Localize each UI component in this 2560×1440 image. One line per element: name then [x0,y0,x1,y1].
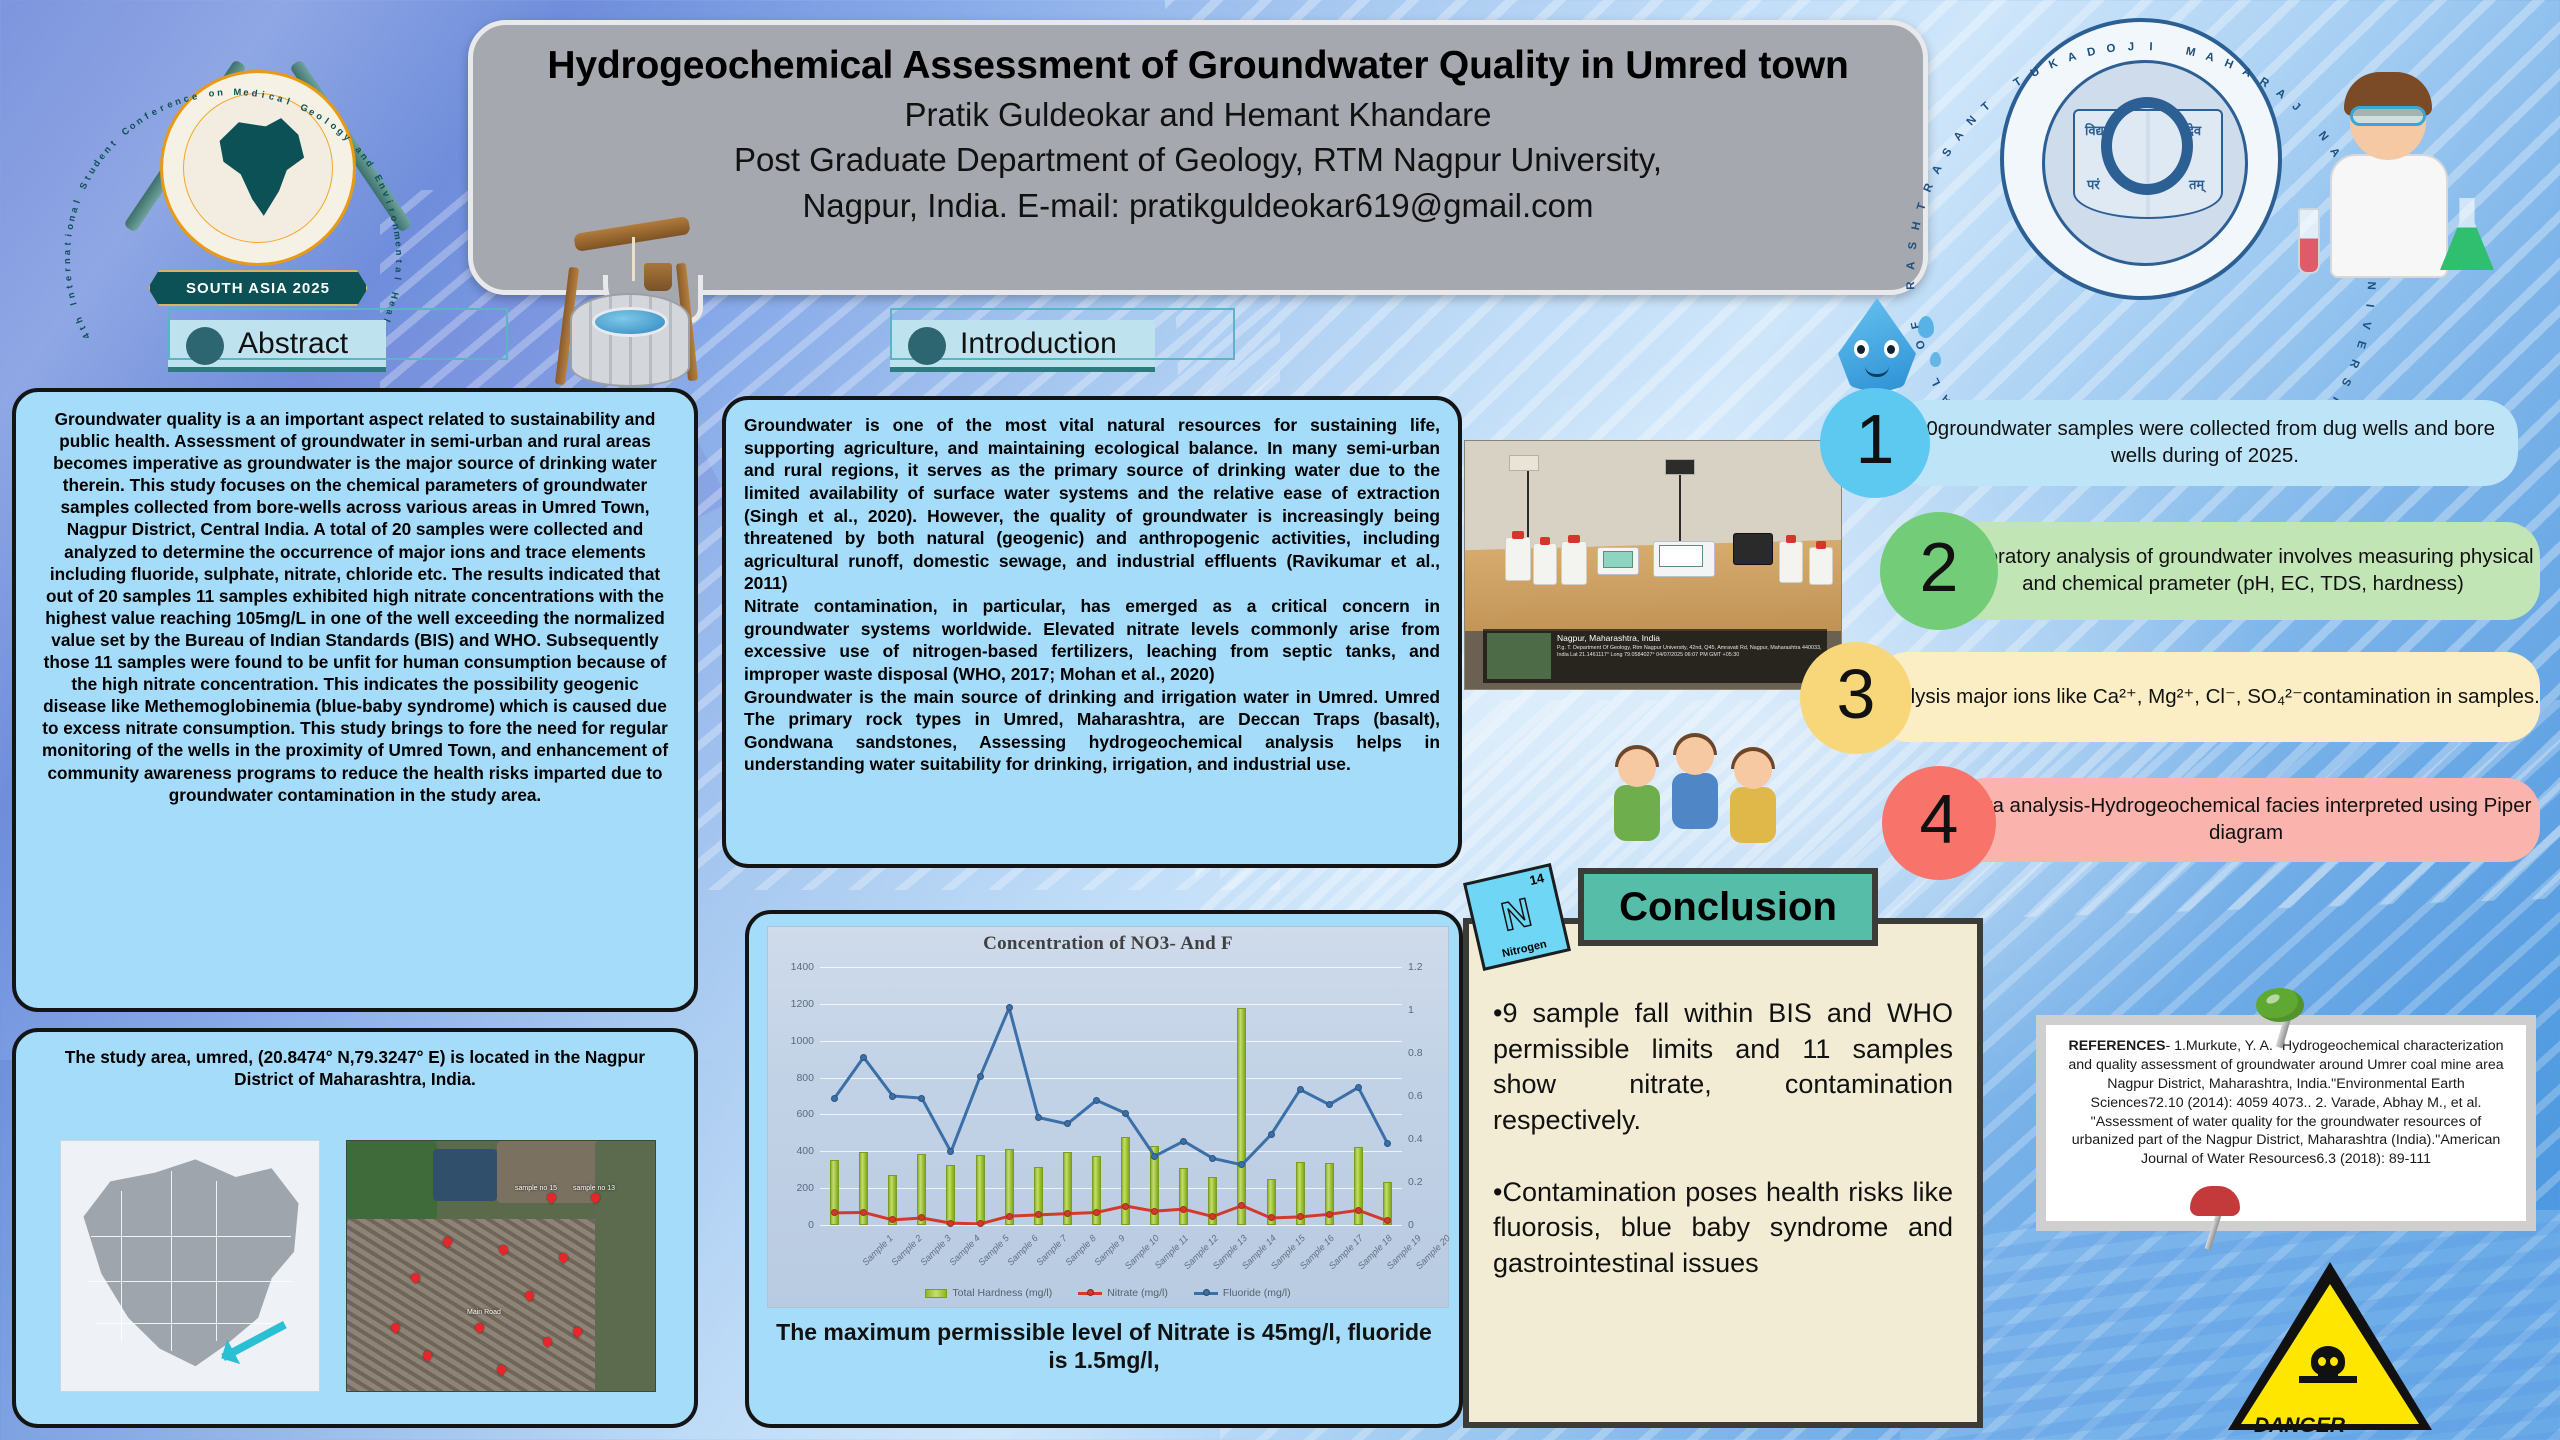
maharashtra-district-map [60,1140,320,1392]
chart-y2-tick: 0.2 [1408,1176,1423,1188]
study-area-panel: The study area, umred, (20.8474° N,79.32… [12,1028,698,1428]
page-title: Hydrogeochemical Assessment of Groundwat… [473,25,1923,90]
chart-data-point [1006,1213,1013,1220]
method-step-1-text: 20groundwater samples were collected fro… [1892,400,2518,486]
chart-data-point [1151,1208,1158,1215]
seal-arc-text: SEAL OF RASHTRASANT TUKADOJI MAHARAJ NAG… [2004,22,2278,296]
chart-data-point [1151,1153,1158,1160]
water-droplet-icon [1930,352,1941,367]
chart-x-tick: Sample 5 [976,1233,1011,1268]
university-seal: विद्या देव परं तम् SEAL OF RASHTRASANT T… [2000,18,2282,300]
introduction-panel: Groundwater is one of the most vital nat… [722,396,1462,868]
chart-data-point [1180,1206,1187,1213]
chart-y-tick: 600 [796,1108,814,1120]
conclusion-section-heading: Conclusion [1578,868,1878,946]
chart-data-point [1064,1210,1071,1217]
heading-bullet-icon [186,327,224,365]
method-step-2: Laboratory analysis of groundwater invol… [1880,512,2540,630]
satellite-sample-map: sample no 15 sample no 13 Main Road [346,1140,656,1392]
chart-x-tick: Sample 9 [1093,1233,1128,1268]
legend-swatch-icon [1078,1292,1102,1295]
method-step-3-number: 3 [1800,642,1912,754]
legend-label: Total Hardness (mg/l) [952,1287,1052,1299]
method-step-4-number: 4 [1882,766,1996,880]
method-step-2-text: Laboratory analysis of groundwater invol… [1946,522,2540,620]
chart-data-point [1355,1084,1362,1091]
chart-data-point [889,1093,896,1100]
chart-data-point [1122,1110,1129,1117]
introduction-text: Groundwater is one of the most vital nat… [726,400,1458,790]
chart-plot-area: 020040060080010001200140000.20.40.60.811… [820,967,1402,1225]
affiliation: Post Graduate Department of Geology, RTM… [473,135,1923,180]
method-step-4-text: Data analysis-Hydrogeochemical facies in… [1952,778,2540,862]
chart-data-point [1093,1097,1100,1104]
chart-data-point [1384,1140,1391,1147]
method-step-3-text: Analysis major ions like Ca²⁺, Mg²⁺, Cl⁻… [1874,652,2540,742]
chart-data-point [1326,1101,1333,1108]
chart-data-point [860,1054,867,1061]
chart-y2-tick: 0.6 [1408,1090,1423,1102]
chart-y2-tick: 0.4 [1408,1133,1423,1145]
chart-data-point [977,1220,984,1227]
chart-data-point [1006,1004,1013,1011]
chart-title: Concentration of NO3- And F [768,927,1448,955]
chart-y2-tick: 0.8 [1408,1047,1423,1059]
chart-data-point [977,1073,984,1080]
chart-x-tick: Sample 4 [947,1233,982,1268]
chart-data-point [1355,1207,1362,1214]
chart-data-point [918,1095,925,1102]
photo-gps-title: Nagpur, Maharashtra, India [1557,633,1660,643]
conference-logo-ribbon: SOUTH ASIA 2025 [148,270,368,306]
introduction-paragraph-2: Nitrate contamination, in particular, ha… [744,595,1440,686]
legend-swatch-icon [1194,1292,1218,1295]
method-step-3: Analysis major ions like Ca²⁺, Mg²⁺, Cl⁻… [1800,642,2540,752]
abstract-section-heading: Abstract [168,318,508,374]
chart-y2-tick: 1.2 [1408,961,1423,973]
legend-label: Fluoride (mg/l) [1223,1287,1291,1299]
heading-bullet-icon [908,327,946,365]
chart-data-point [1093,1209,1100,1216]
chart-data-point [1122,1203,1129,1210]
sat-label: Main Road [467,1309,501,1316]
scientist-illustration [2290,58,2520,318]
chart-y2-tick: 1 [1408,1004,1414,1016]
chart-y-tick: 400 [796,1145,814,1157]
chart-gridline [820,1225,1402,1226]
skull-crossbones-icon [2302,1346,2354,1388]
chart-x-tick: Sample 7 [1035,1233,1070,1268]
chart-y-tick: 0 [808,1219,814,1231]
author-list: Pratik Guldeokar and Hemant Khandare [473,90,1923,135]
danger-label: DANGER [2254,1414,2345,1438]
introduction-paragraph-1: Groundwater is one of the most vital nat… [744,414,1440,595]
method-step-1-number: 1 [1820,388,1930,498]
study-area-caption: The study area, umred, (20.8474° N,79.32… [16,1032,694,1097]
chart-y-tick: 1400 [791,961,814,973]
conclusion-text: •9 sample fall within BIS and WHO permis… [1469,924,1977,1281]
chart-y-tick: 800 [796,1072,814,1084]
abstract-text: Groundwater quality is a an important as… [16,392,694,822]
chart-lines [820,967,1402,1225]
references-body: - 1.Murkute, Y. A. "Hydrogeochemical cha… [2068,1038,2503,1167]
chart-x-tick: Sample 2 [889,1233,924,1268]
water-well-illustration [540,215,720,390]
legend-label: Nitrate (mg/l) [1107,1287,1168,1299]
sat-label: sample no 15 [515,1185,557,1192]
study-area-maps: sample no 15 sample no 13 Main Road [16,1132,694,1412]
method-step-2-number: 2 [1880,512,1998,630]
chart-legend-item: Nitrate (mg/l) [1078,1287,1168,1299]
green-pushpin-icon [2252,988,2314,1050]
chart-legend: Total Hardness (mg/l)Nitrate (mg/l)Fluor… [768,1287,1448,1299]
conclusion-bullet-2: •Contamination poses health risks like f… [1493,1175,1953,1282]
conclusion-bullet-1: •9 sample fall within BIS and WHO permis… [1493,996,1953,1139]
chart-x-tick: Sample 3 [918,1233,953,1268]
chart-y-tick: 200 [796,1182,814,1194]
chart-legend-item: Fluoride (mg/l) [1194,1287,1291,1299]
chart-data-point [1035,1114,1042,1121]
chart-caption: The maximum permissible level of Nitrate… [749,1318,1459,1374]
red-pushpin-icon [2186,1186,2244,1250]
method-step-1: 20groundwater samples were collected fro… [1820,388,2520,498]
references-label: REFERENCES [2068,1038,2165,1054]
introduction-paragraph-3: Groundwater is the main source of drinki… [744,686,1440,777]
chart-y-tick: 1000 [791,1035,814,1047]
chart-x-tick: Sample 1 [860,1233,895,1268]
conference-logo: 4th International Student Conference on … [108,32,358,312]
chart-data-point [1180,1138,1187,1145]
chart-data-point [831,1095,838,1102]
chart-y-tick: 1200 [791,998,814,1010]
legend-swatch-icon [925,1289,947,1298]
chart-data-point [1297,1086,1304,1093]
conclusion-panel: •9 sample fall within BIS and WHO permis… [1463,918,1983,1428]
sat-label: sample no 13 [573,1185,615,1192]
water-drop-mascot-icon [1838,298,1916,394]
chart-x-tick: Sample 6 [1005,1233,1040,1268]
danger-sign: DANGER [2228,1262,2438,1440]
water-droplet-icon [1918,316,1934,338]
children-illustration [1610,735,1785,853]
nitrate-fluoride-chart: Concentration of NO3- And F 020040060080… [767,926,1449,1308]
chart-panel: Concentration of NO3- And F 020040060080… [745,910,1463,1428]
introduction-section-heading: Introduction [890,318,1235,374]
chart-x-tick: Sample 8 [1064,1233,1099,1268]
chart-legend-item: Total Hardness (mg/l) [925,1287,1052,1299]
chart-data-point [1326,1211,1333,1218]
chart-y2-tick: 0 [1408,1219,1414,1231]
method-step-4: Data analysis-Hydrogeochemical facies in… [1882,766,2540,878]
photo-gps-subtitle: P.g. T. Department Of Geology, Rtm Nagpu… [1557,645,1827,660]
chart-data-point [1268,1131,1275,1138]
abstract-panel: Groundwater quality is a an important as… [12,388,698,1012]
laboratory-photo: Nagpur, Maharashtra, India P.g. T. Depar… [1464,440,1842,690]
